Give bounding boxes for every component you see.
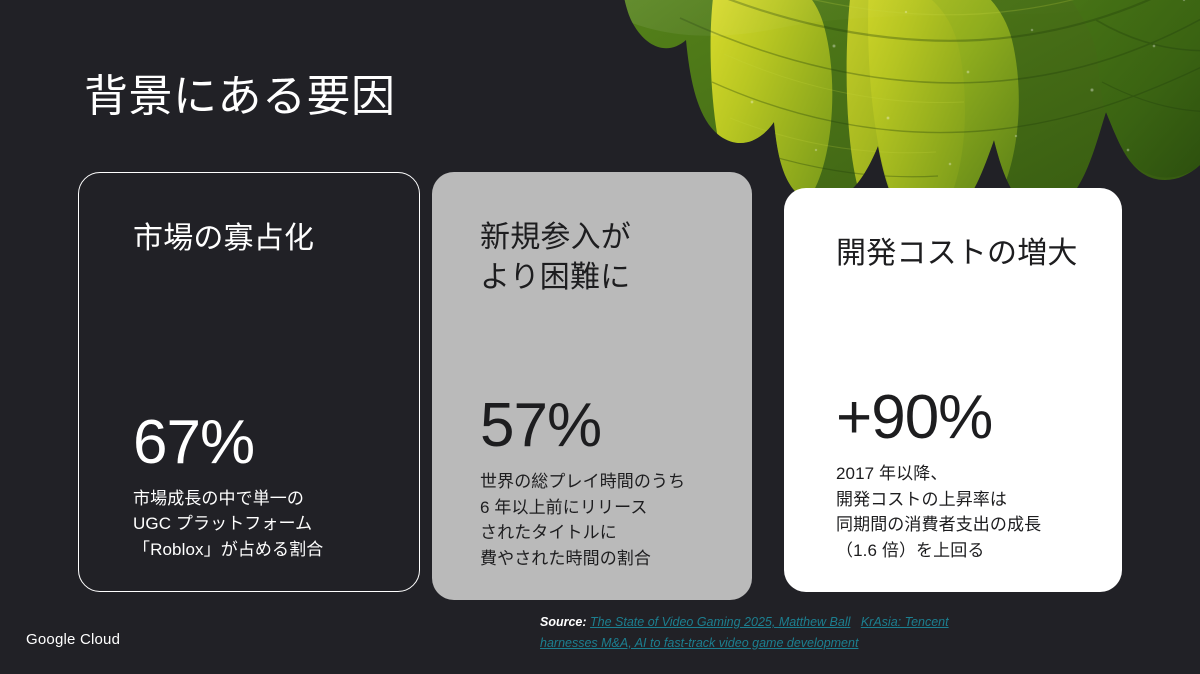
stat-card-new-entry-harder: 新規参入が より困難に 57% 世界の総プレイ時間のうち 6 年以上前にリリース…: [432, 172, 752, 600]
card-spacer: [462, 297, 722, 395]
stat-card-value: 67%: [109, 412, 389, 474]
card-spacer: [109, 259, 389, 412]
source-label: Source:: [540, 615, 587, 629]
stat-card-description: 市場成長の中で単一の UGC プラットフォーム 「Roblox」が占める割合: [109, 486, 389, 563]
stat-card-title: 新規参入が より困難に: [462, 218, 722, 297]
stat-card-value: +90%: [814, 387, 1092, 449]
stat-card-market-oligopoly: 市場の寡占化 67% 市場成長の中で単一の UGC プラットフォーム 「Robl…: [78, 172, 420, 592]
slide-canvas: 背景にある要因 市場の寡占化 67% 市場成長の中で単一の UGC プラットフォ…: [0, 0, 1200, 674]
stat-card-title: 市場の寡占化: [109, 219, 389, 259]
source-citation: Source: The State of Video Gaming 2025, …: [540, 612, 960, 653]
stat-card-title: 開発コストの増大: [814, 234, 1092, 274]
stat-card-value: 57%: [462, 395, 722, 457]
brand-secondary-text: Cloud: [80, 631, 120, 648]
stat-cards-row: 市場の寡占化 67% 市場成長の中で単一の UGC プラットフォーム 「Robl…: [0, 0, 1200, 674]
stat-card-dev-cost-increase: 開発コストの増大 +90% 2017 年以降、 開発コストの上昇率は 同期間の消…: [784, 188, 1122, 592]
google-cloud-logo: Google Cloud: [26, 631, 120, 648]
stat-card-description: 2017 年以降、 開発コストの上昇率は 同期間の消費者支出の成長 （1.6 倍…: [814, 461, 1092, 564]
source-link-matthew-ball[interactable]: The State of Video Gaming 2025, Matthew …: [590, 615, 850, 629]
card-spacer: [814, 274, 1092, 387]
brand-primary-text: Google: [26, 631, 76, 648]
stat-card-description: 世界の総プレイ時間のうち 6 年以上前にリリース されたタイトルに 費やされた時…: [462, 469, 722, 572]
